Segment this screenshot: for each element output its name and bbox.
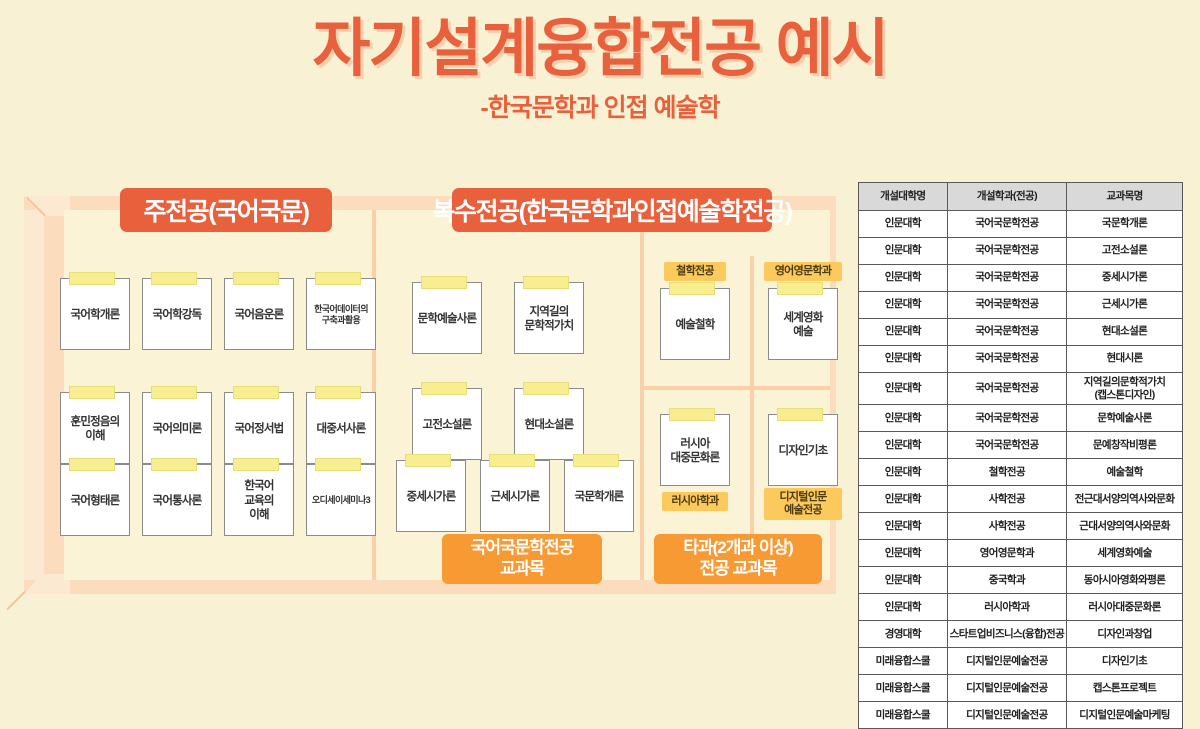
table-cell-college: 인문대학 [859, 265, 948, 292]
table-header-course: 교과목명 [1067, 183, 1183, 211]
course-card-other-3[interactable]: 러시아대중문화론 [660, 414, 730, 486]
card-tab-icon [421, 276, 467, 289]
course-card-double-4[interactable]: 현대소설론 [514, 388, 584, 460]
course-card-main-9[interactable]: 국어형태론 [60, 464, 130, 536]
table-row: 인문대학국어국문학전공현대시론 [859, 346, 1183, 373]
course-card-label: 지역길의문학적가치 [525, 305, 574, 334]
course-card-main-3[interactable]: 국어음운론 [224, 278, 294, 350]
table-cell-college: 미래융합스쿨 [859, 675, 948, 702]
course-card-label: 국어형태론 [71, 494, 120, 508]
course-card-double-6[interactable]: 근세시가론 [480, 460, 550, 532]
table-row: 인문대학국어국문학전공문학예술사론 [859, 405, 1183, 432]
card-tab-icon [523, 276, 569, 289]
table-cell-college: 인문대학 [859, 211, 948, 238]
table-cell-college: 미래융합스쿨 [859, 702, 948, 729]
course-card-label: 중세시가론 [407, 490, 456, 504]
table-cell-course: 국문학개론 [1067, 211, 1183, 238]
course-card-main-2[interactable]: 국어학강독 [142, 278, 212, 350]
dept-tag-philosophy: 철학전공 [664, 262, 726, 281]
table-row: 인문대학국어국문학전공고전소설론 [859, 238, 1183, 265]
course-card-label: 오디세이세미나3 [312, 495, 370, 506]
table-cell-department: 러시아학과 [947, 594, 1067, 621]
course-card-label: 대중서사론 [317, 422, 366, 436]
table-row: 미래융합스쿨디지털인문예술전공캡스톤프로젝트 [859, 675, 1183, 702]
course-card-label: 국어의미론 [153, 422, 202, 436]
footer-badge-other-depts: 타과(2개과 이상)전공 교과목 [654, 534, 822, 584]
table-cell-department: 국어국문학전공 [947, 373, 1067, 405]
card-tab-icon [489, 454, 535, 467]
course-card-other-1[interactable]: 예술철학 [660, 288, 730, 360]
dept-tag-digital-humanities: 디지털인문예술전공 [764, 488, 842, 520]
table-row: 인문대학국어국문학전공근세시가론 [859, 292, 1183, 319]
course-card-label: 현대소설론 [525, 418, 574, 432]
course-card-label: 국어학강독 [153, 308, 202, 322]
frame-bevel-left [24, 210, 44, 580]
table-header-department: 개설학과(전공) [947, 183, 1067, 211]
table-cell-college: 인문대학 [859, 486, 948, 513]
course-card-main-12[interactable]: 오디세이세미나3 [306, 464, 376, 536]
table-cell-college: 인문대학 [859, 513, 948, 540]
divider-double-vs-other [640, 210, 644, 580]
table-cell-college: 인문대학 [859, 432, 948, 459]
table-cell-course: 캡스톤프로젝트 [1067, 675, 1183, 702]
table-cell-course: 세계영화예술 [1067, 540, 1183, 567]
table-cell-college: 인문대학 [859, 459, 948, 486]
table-cell-department: 국어국문학전공 [947, 346, 1067, 373]
table-cell-department: 국어국문학전공 [947, 238, 1067, 265]
course-card-other-2[interactable]: 세계영화예술 [768, 288, 838, 360]
card-tab-icon [669, 408, 715, 421]
table-cell-course: 문학예술사론 [1067, 405, 1183, 432]
table-cell-college: 인문대학 [859, 373, 948, 405]
course-card-other-4[interactable]: 디자인기초 [768, 414, 838, 486]
table-cell-course: 근세시가론 [1067, 292, 1183, 319]
card-tab-icon [421, 382, 467, 395]
course-card-label: 러시아대중문화론 [671, 437, 720, 466]
section-heading-double-major: 복수전공(한국문학과인접예술학전공) [452, 188, 772, 232]
table-row: 인문대학국어국문학전공문예창작비평론 [859, 432, 1183, 459]
card-tab-icon [233, 386, 279, 399]
course-card-label: 근세시가론 [491, 490, 540, 504]
course-card-label: 국어통사론 [153, 494, 202, 508]
table-cell-course: 근대서양의역사와문화 [1067, 513, 1183, 540]
card-tab-icon [523, 382, 569, 395]
course-card-double-5[interactable]: 중세시가론 [396, 460, 466, 532]
table-cell-department: 철학전공 [947, 459, 1067, 486]
course-card-double-7[interactable]: 국문학개론 [564, 460, 634, 532]
table-cell-department: 국어국문학전공 [947, 292, 1067, 319]
table-cell-course: 전근대서양의역사와문화 [1067, 486, 1183, 513]
table-cell-department: 영어영문학과 [947, 540, 1067, 567]
course-card-label: 국어학개론 [71, 308, 120, 322]
table-cell-college: 인문대학 [859, 238, 948, 265]
card-tab-icon [573, 454, 619, 467]
table-cell-course: 현대소설론 [1067, 319, 1183, 346]
card-tab-icon [151, 272, 197, 285]
table-cell-course: 지역길의문학적가치(캡스톤디자인) [1067, 373, 1183, 405]
divider-other-rows [642, 386, 830, 390]
course-card-label: 세계영화예술 [783, 311, 822, 340]
course-card-main-5[interactable]: 훈민정음의이해 [60, 392, 130, 464]
card-tab-icon [151, 386, 197, 399]
divider-other-columns [750, 256, 754, 580]
table-cell-course: 현대시론 [1067, 346, 1183, 373]
bevel-line-bottom [6, 591, 26, 611]
course-card-main-8[interactable]: 대중서사론 [306, 392, 376, 464]
course-card-double-3[interactable]: 고전소설론 [412, 388, 482, 460]
table-cell-course: 동아시아영화와평론 [1067, 567, 1183, 594]
dept-tag-russia: 러시아학과 [662, 492, 728, 511]
table-cell-department: 사학전공 [947, 486, 1067, 513]
table-row: 인문대학철학전공예술철학 [859, 459, 1183, 486]
course-card-label: 디자인기초 [779, 444, 828, 458]
table-cell-department: 스타트업비즈니스(융합)전공 [947, 621, 1067, 648]
course-list-table: 개설대학명 개설학과(전공) 교과목명 인문대학국어국문학전공국문학개론인문대학… [858, 182, 1183, 729]
table-cell-college: 인문대학 [859, 567, 948, 594]
table-cell-college: 인문대학 [859, 594, 948, 621]
course-card-label: 예술철학 [675, 318, 714, 332]
table-cell-course: 중세시가론 [1067, 265, 1183, 292]
section-heading-main-major: 주전공(국어국문) [120, 188, 332, 232]
table-cell-college: 인문대학 [859, 292, 948, 319]
table-row: 경영대학스타트업비즈니스(융합)전공디자인과창업 [859, 621, 1183, 648]
course-card-label: 국어정서법 [235, 422, 284, 436]
card-tab-icon [151, 458, 197, 471]
table-row: 인문대학중국학과동아시아영화와평론 [859, 567, 1183, 594]
course-card-label: 고전소설론 [423, 418, 472, 432]
course-card-main-1[interactable]: 국어학개론 [60, 278, 130, 350]
card-tab-icon [405, 454, 451, 467]
card-tab-icon [315, 458, 361, 471]
course-card-main-11[interactable]: 한국어교육의이해 [224, 464, 294, 536]
course-card-label: 한국어교육의이해 [244, 479, 273, 522]
table-header-row: 개설대학명 개설학과(전공) 교과목명 [859, 183, 1183, 211]
card-tab-icon [233, 272, 279, 285]
table-cell-department: 국어국문학전공 [947, 319, 1067, 346]
course-card-main-6[interactable]: 국어의미론 [142, 392, 212, 464]
card-tab-icon [315, 386, 361, 399]
card-tab-icon [69, 272, 115, 285]
table-cell-course: 디지털인문예술마케팅 [1067, 702, 1183, 729]
page-title: 자기설계융합전공 예시 [0, 16, 1200, 82]
course-card-label: 국어음운론 [235, 308, 284, 322]
course-card-double-1[interactable]: 문학예술사론 [412, 282, 482, 354]
table-cell-course: 문예창작비평론 [1067, 432, 1183, 459]
course-card-main-4[interactable]: 한국어데이터의구축과활용 [306, 278, 376, 350]
table-row: 인문대학국어국문학전공지역길의문학적가치(캡스톤디자인) [859, 373, 1183, 405]
page-header: 자기설계융합전공 예시 -한국문학과 인접 예술학 [0, 16, 1200, 124]
course-card-label: 문학예술사론 [418, 312, 477, 326]
table-cell-course: 러시아대중문화론 [1067, 594, 1183, 621]
table-row: 인문대학영어영문학과세계영화예술 [859, 540, 1183, 567]
table-cell-department: 디지털인문예술전공 [947, 675, 1067, 702]
dept-tag-english: 영어영문학과 [764, 262, 842, 281]
table-row: 인문대학국어국문학전공현대소설론 [859, 319, 1183, 346]
table-row: 인문대학사학전공근대서양의역사와문화 [859, 513, 1183, 540]
table-row: 인문대학국어국문학전공국문학개론 [859, 211, 1183, 238]
course-card-label: 국문학개론 [575, 490, 624, 504]
course-card-main-7[interactable]: 국어정서법 [224, 392, 294, 464]
course-list-table-wrap: 개설대학명 개설학과(전공) 교과목명 인문대학국어국문학전공국문학개론인문대학… [858, 182, 1183, 729]
table-cell-course: 디자인과창업 [1067, 621, 1183, 648]
curriculum-diagram: 주전공(국어국문) 복수전공(한국문학과인접예술학전공) 국어학개론 국어학강독… [24, 196, 836, 594]
course-card-label: 훈민정음의이해 [71, 415, 120, 444]
card-tab-icon [69, 458, 115, 471]
table-row: 인문대학러시아학과러시아대중문화론 [859, 594, 1183, 621]
table-cell-department: 국어국문학전공 [947, 265, 1067, 292]
table-cell-department: 국어국문학전공 [947, 211, 1067, 238]
table-cell-college: 인문대학 [859, 405, 948, 432]
table-cell-college: 인문대학 [859, 346, 948, 373]
table-cell-college: 인문대학 [859, 540, 948, 567]
card-tab-icon [669, 282, 715, 295]
card-tab-icon [69, 386, 115, 399]
footer-badge-korean-lit: 국어국문학전공교과목 [442, 534, 602, 584]
page-subtitle: -한국문학과 인접 예술학 [0, 88, 1200, 124]
table-cell-department: 국어국문학전공 [947, 432, 1067, 459]
card-tab-icon [233, 458, 279, 471]
table-cell-department: 국어국문학전공 [947, 405, 1067, 432]
table-row: 미래융합스쿨디지털인문예술전공디지털인문예술마케팅 [859, 702, 1183, 729]
table-header-college: 개설대학명 [859, 183, 948, 211]
card-tab-icon [315, 272, 361, 285]
table-cell-course: 예술철학 [1067, 459, 1183, 486]
table-cell-department: 디지털인문예술전공 [947, 702, 1067, 729]
course-card-label: 한국어데이터의구축과활용 [314, 304, 368, 327]
table-cell-department: 중국학과 [947, 567, 1067, 594]
table-body: 인문대학국어국문학전공국문학개론인문대학국어국문학전공고전소설론인문대학국어국문… [859, 211, 1183, 729]
table-cell-course: 고전소설론 [1067, 238, 1183, 265]
course-card-main-10[interactable]: 국어통사론 [142, 464, 212, 536]
table-row: 인문대학사학전공전근대서양의역사와문화 [859, 486, 1183, 513]
table-row: 인문대학국어국문학전공중세시가론 [859, 265, 1183, 292]
table-cell-department: 사학전공 [947, 513, 1067, 540]
table-cell-college: 경영대학 [859, 621, 948, 648]
table-cell-college: 인문대학 [859, 319, 948, 346]
card-tab-icon [777, 282, 823, 295]
card-tab-icon [777, 408, 823, 421]
course-card-double-2[interactable]: 지역길의문학적가치 [514, 282, 584, 354]
